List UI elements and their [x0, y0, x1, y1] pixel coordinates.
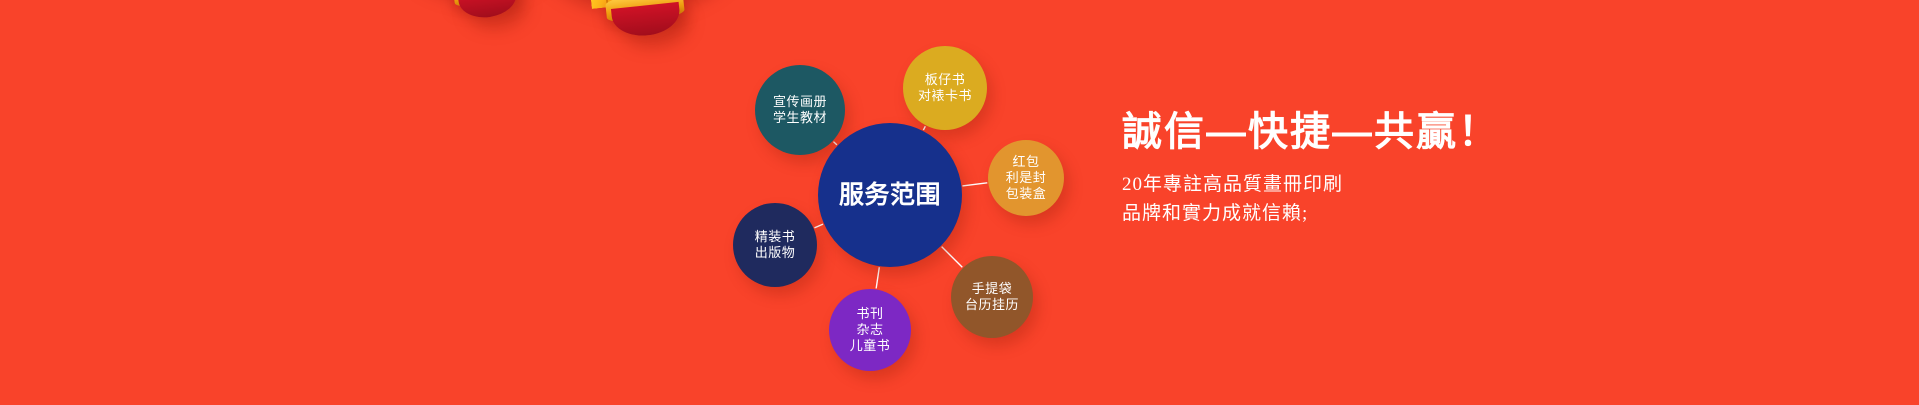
bubble-label-line: 出版物 [755, 245, 796, 261]
promo-banner: 宣传画册学生教材板仔书对裱卡书红包利是封包装盒手提袋台历挂历书刊杂志儿童书精装书… [0, 0, 1919, 405]
connector-line [814, 224, 823, 228]
bubble-label-line: 学生教材 [773, 110, 827, 126]
center-bubble-label: 服务范围 [839, 180, 941, 211]
connector-line [833, 142, 836, 145]
connector-line [923, 126, 925, 130]
bubble-label-line: 书刊 [856, 306, 883, 322]
connector-line [876, 267, 879, 288]
service-scope-diagram: 宣传画册学生教材板仔书对裱卡书红包利是封包装盒手提袋台历挂历书刊杂志儿童书精装书… [0, 0, 1200, 405]
bubble-label-line: 宣传画册 [773, 94, 827, 110]
bubble-label-line: 红包 [1012, 154, 1039, 170]
bubble-label-line: 利是封 [1006, 170, 1047, 186]
bubble-periodicals[interactable]: 书刊杂志儿童书 [829, 289, 911, 371]
slogan-sub-line-1: 20年專註高品質畫冊印刷 [1122, 170, 1500, 199]
bubble-label-line: 儿童书 [850, 338, 891, 354]
bubble-label-line: 包装盒 [1006, 186, 1047, 202]
bubble-board-books[interactable]: 板仔书对裱卡书 [903, 46, 987, 130]
slogan-subtext: 20年專註高品質畫冊印刷 品牌和實力成就信賴; [1122, 170, 1500, 229]
bubble-handbags-calendars[interactable]: 手提袋台历挂历 [951, 256, 1033, 338]
bubble-label-line: 杂志 [856, 322, 883, 338]
slogan-sub-line-2: 品牌和實力成就信賴; [1122, 199, 1500, 228]
connector-line [962, 183, 987, 186]
bubble-red-envelopes[interactable]: 红包利是封包装盒 [988, 140, 1064, 216]
bubble-promo-albums[interactable]: 宣传画册学生教材 [755, 65, 845, 155]
bubble-service-scope-center[interactable]: 服务范围 [818, 123, 962, 267]
connector-line [942, 247, 963, 268]
bubble-label-line: 台历挂历 [965, 297, 1019, 313]
bubble-hardcover-publications[interactable]: 精装书出版物 [733, 203, 817, 287]
bubble-label-line: 板仔书 [925, 72, 966, 88]
bubble-label-line: 手提袋 [972, 281, 1013, 297]
bubble-label-line: 对裱卡书 [918, 88, 972, 104]
bubble-label-line: 精装书 [755, 229, 796, 245]
slogan-block: 誠信—快捷—共贏！ 20年專註高品質畫冊印刷 品牌和實力成就信賴; [1122, 110, 1500, 229]
slogan-headline: 誠信—快捷—共贏！ [1122, 110, 1500, 154]
